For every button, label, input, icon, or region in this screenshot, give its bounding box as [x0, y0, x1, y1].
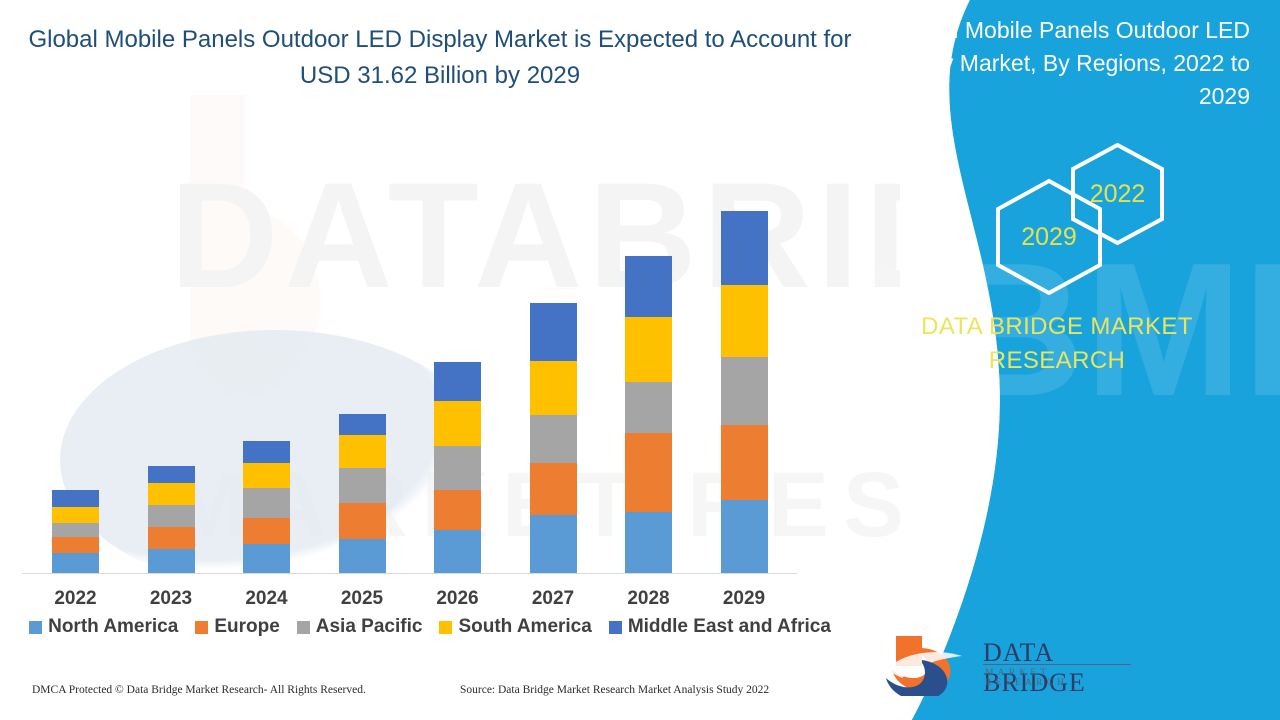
- bar-segment: [339, 503, 386, 539]
- bar-segment: [148, 549, 195, 573]
- bar-segment: [625, 256, 672, 317]
- bar-segment: [530, 361, 577, 415]
- legend-label: Middle East and Africa: [628, 616, 831, 638]
- bar-segment: [530, 463, 577, 515]
- bar-segment: [434, 490, 481, 530]
- bar-stack: [339, 414, 386, 573]
- legend-label: South America: [458, 616, 591, 638]
- legend-label: Asia Pacific: [316, 616, 423, 638]
- legend-item[interactable]: Asia Pacific: [297, 616, 423, 638]
- bar-stack: [625, 256, 672, 573]
- legend-swatch: [195, 621, 208, 634]
- bar-segment: [721, 285, 768, 357]
- bar-segment: [52, 523, 99, 537]
- bar-segment: [148, 466, 195, 483]
- legend-item[interactable]: North America: [29, 616, 178, 638]
- legend-swatch: [29, 621, 42, 634]
- x-axis-tick-label: 2023: [131, 588, 211, 610]
- x-axis-tick-label: 2024: [227, 588, 307, 610]
- logo-subtitle: MARKET RESEARCH: [985, 668, 1128, 688]
- bar-segment: [434, 362, 481, 401]
- logo-divider: [983, 664, 1131, 665]
- bar-segment: [530, 303, 577, 361]
- company-logo: DATA BRIDGE MARKET RESEARCH: [878, 630, 1128, 698]
- legend-swatch: [609, 621, 622, 634]
- bar-segment: [434, 446, 481, 490]
- logo-mark-icon: [878, 630, 978, 696]
- legend-item[interactable]: Europe: [195, 616, 279, 638]
- bar-stack: [721, 211, 768, 573]
- bar-stack: [243, 441, 290, 573]
- bar-segment: [339, 468, 386, 503]
- bar-segment: [243, 463, 290, 488]
- legend-label: Europe: [214, 616, 279, 638]
- bar-segment: [625, 512, 672, 573]
- bar-segment: [243, 544, 290, 573]
- chart-panel: DATABRIDGE MARKET RESEARCH Global Mobile…: [0, 0, 900, 720]
- page-title: Global Mobile Panels Outdoor LED Display…: [20, 22, 860, 94]
- bar-segment: [721, 500, 768, 573]
- x-axis-tick-label: 2026: [418, 588, 498, 610]
- bar-segment: [434, 530, 481, 573]
- bar-stack: [530, 303, 577, 573]
- bar-segment: [625, 433, 672, 512]
- bar-segment: [339, 435, 386, 468]
- bar-segment: [243, 488, 290, 518]
- brand-panel-title: Global Mobile Panels Outdoor LED Display…: [870, 14, 1250, 113]
- bar-stack: [434, 362, 481, 573]
- bar-segment: [148, 483, 195, 505]
- hexagon-end-label: 2029: [995, 178, 1103, 296]
- bar-segment: [434, 401, 481, 446]
- x-axis-tick-label: 2028: [609, 588, 689, 610]
- legend-label: North America: [48, 616, 178, 638]
- copyright-notice: DMCA Protected © Data Bridge Market Rese…: [32, 684, 366, 696]
- bar-segment: [243, 518, 290, 544]
- bar-segment: [148, 527, 195, 549]
- x-axis-line: [22, 573, 797, 574]
- legend-swatch: [439, 621, 452, 634]
- bar-stack: [148, 466, 195, 573]
- bar-segment: [52, 553, 99, 573]
- x-axis-tick-labels: 20222023202420252026202720282029: [22, 588, 812, 616]
- brand-name: DATA BRIDGE MARKET RESEARCH: [862, 310, 1252, 378]
- bar-segment: [625, 382, 672, 433]
- x-axis-tick-label: 2022: [36, 588, 116, 610]
- bar-segment: [339, 414, 386, 435]
- bar-segment: [530, 515, 577, 573]
- x-axis-tick-label: 2029: [704, 588, 784, 610]
- legend-item[interactable]: Middle East and Africa: [609, 616, 831, 638]
- chart-legend: North AmericaEuropeAsia PacificSouth Ame…: [0, 616, 860, 638]
- legend-swatch: [297, 621, 310, 634]
- legend-item[interactable]: South America: [439, 616, 591, 638]
- bar-segment: [339, 539, 386, 573]
- bar-segment: [625, 317, 672, 382]
- x-axis-tick-label: 2027: [513, 588, 593, 610]
- bar-segment: [52, 507, 99, 523]
- bar-segment: [243, 441, 290, 463]
- bar-segment: [148, 505, 195, 527]
- x-axis-tick-label: 2025: [322, 588, 402, 610]
- bar-segment: [52, 490, 99, 507]
- brand-panel: DBMR Global Mobile Panels Outdoor LED Di…: [850, 0, 1280, 720]
- bar-segment: [530, 415, 577, 463]
- bar-segment: [721, 425, 768, 500]
- source-notice: Source: Data Bridge Market Research Mark…: [460, 684, 769, 696]
- bar-segment: [721, 357, 768, 425]
- hexagon-badge-end: 2029: [995, 178, 1103, 296]
- bar-stack: [52, 490, 99, 573]
- bar-segment: [721, 211, 768, 285]
- plot-area: [22, 150, 812, 573]
- bar-segment: [52, 537, 99, 553]
